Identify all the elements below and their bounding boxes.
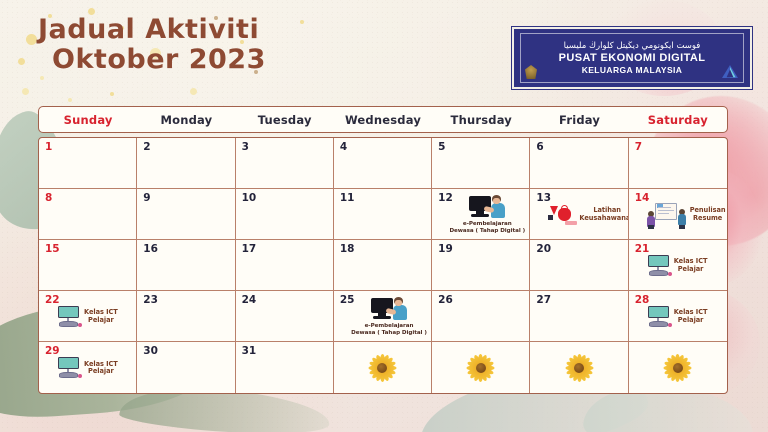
sunflower-icon — [367, 353, 397, 383]
event-label: Dewasa ( Tahap Digital ) — [351, 330, 427, 336]
day-number: 5 — [438, 142, 526, 153]
monitor-icon — [646, 305, 672, 329]
calendar-day-cell[interactable] — [334, 342, 432, 393]
event-label: Pelajar — [674, 266, 708, 273]
weekday-header-wednesday: Wednesday — [334, 107, 432, 132]
event-label: Pelajar — [674, 317, 708, 324]
day-number: 6 — [536, 142, 624, 153]
title-line-2: Oktober 2023 — [52, 46, 266, 74]
malaysia-crest-emblem-icon — [525, 65, 537, 79]
calendar-day-cell[interactable]: 16 — [137, 240, 235, 291]
calendar-poster: Jadual Aktiviti Oktober 2023 فوست ايكونو… — [0, 0, 768, 432]
calendar-day-cell[interactable]: 4 — [334, 138, 432, 189]
calendar-day-cell[interactable] — [432, 342, 530, 393]
event-text-block: Kelas ICTPelajar — [84, 309, 118, 324]
calendar-day-cell[interactable]: 20 — [530, 240, 628, 291]
weekday-header-saturday: Saturday — [629, 107, 727, 132]
calendar-day-cell[interactable]: 24 — [236, 291, 334, 342]
calendar-day-cell[interactable]: 7 — [629, 138, 727, 189]
calendar-day-cell[interactable]: 27 — [530, 291, 628, 342]
day-number: 30 — [143, 346, 231, 357]
triangle-logo-icon — [722, 65, 738, 78]
day-number: 18 — [340, 244, 428, 255]
event-text-block: PenulisanResume — [690, 207, 726, 222]
day-number: 28 — [635, 295, 724, 306]
calendar-day-cell[interactable]: 26 — [432, 291, 530, 342]
day-number: 19 — [438, 244, 526, 255]
calendar-day-cell[interactable]: 15 — [39, 240, 137, 291]
sunflower-icon — [466, 353, 496, 383]
event-label: Keusahawanan — [579, 215, 628, 222]
day-number: 23 — [143, 295, 231, 306]
event-text-block: Kelas ICTPelajar — [674, 258, 708, 273]
day-number: 21 — [635, 244, 724, 255]
day-number: 2 — [143, 142, 231, 153]
monitor-icon — [646, 254, 672, 278]
day-number: 7 — [635, 142, 724, 153]
day-number: 13 — [536, 193, 624, 204]
event-text-block: LatihanKeusahawanan — [579, 207, 628, 222]
page-title: Jadual Aktiviti Oktober 2023 — [38, 16, 266, 74]
day-number: 26 — [438, 295, 526, 306]
calendar-day-cell[interactable]: 25e-PembelajaranDewasa ( Tahap Digital ) — [334, 291, 432, 342]
day-number: 17 — [242, 244, 330, 255]
weekday-header-row: SundayMondayTuesdayWednesdayThursdayFrid… — [38, 106, 728, 133]
calendar-day-cell[interactable]: 28Kelas ICTPelajar — [629, 291, 727, 342]
day-number: 1 — [45, 142, 133, 153]
calendar-day-cell[interactable]: 2 — [137, 138, 235, 189]
calendar-day-cell[interactable]: 12e-PembelajaranDewasa ( Tahap Digital ) — [432, 189, 530, 240]
calendar-day-cell[interactable]: 8 — [39, 189, 137, 240]
day-number: 24 — [242, 295, 330, 306]
day-number: 8 — [45, 193, 133, 204]
calendar-day-cell[interactable]: 29Kelas ICTPelajar — [39, 342, 137, 393]
day-number: 20 — [536, 244, 624, 255]
weekday-header-thursday: Thursday — [432, 107, 530, 132]
day-number: 31 — [242, 346, 330, 357]
day-number: 25 — [340, 295, 428, 306]
weekday-header-sunday: Sunday — [39, 107, 137, 132]
calendar-day-cell[interactable]: 22Kelas ICTPelajar — [39, 291, 137, 342]
day-number: 12 — [438, 193, 526, 204]
calendar-day-cell[interactable]: 19 — [432, 240, 530, 291]
organization-logo-banner: فوست ايكونومي ديڬيتل كلوارڬ مليسيا PUSAT… — [512, 27, 752, 89]
title-line-1: Jadual Aktiviti — [38, 16, 266, 44]
event-text-block: Kelas ICTPelajar — [674, 309, 708, 324]
logo-secondary-text: KELUARGA MALAYSIA — [582, 65, 683, 75]
calendar-day-cell[interactable]: 11 — [334, 189, 432, 240]
logo-primary-text: PUSAT EKONOMI DIGITAL — [559, 52, 706, 64]
calendar-day-cell[interactable]: 30 — [137, 342, 235, 393]
day-number: 27 — [536, 295, 624, 306]
calendar-day-cell[interactable]: 6 — [530, 138, 628, 189]
event-label: Resume — [690, 215, 726, 222]
day-number: 22 — [45, 295, 133, 306]
weekday-header-monday: Monday — [137, 107, 235, 132]
monitor-icon — [56, 305, 82, 329]
weekday-header-friday: Friday — [530, 107, 628, 132]
weekday-header-tuesday: Tuesday — [236, 107, 334, 132]
calendar-day-cell[interactable]: 21Kelas ICTPelajar — [629, 240, 727, 291]
people-whiteboard-icon — [646, 202, 688, 228]
calendar-day-cell[interactable] — [629, 342, 727, 393]
calendar-day-cell[interactable]: 9 — [137, 189, 235, 240]
day-number: 4 — [340, 142, 428, 153]
calendar: SundayMondayTuesdayWednesdayThursdayFrid… — [38, 106, 728, 394]
sunflower-icon — [564, 353, 594, 383]
calendar-day-cell[interactable]: 18 — [334, 240, 432, 291]
monitor-icon — [56, 356, 82, 380]
calendar-day-cell[interactable]: 5 — [432, 138, 530, 189]
day-number: 10 — [242, 193, 330, 204]
event-text-block: Kelas ICTPelajar — [84, 361, 118, 376]
calendar-day-cell[interactable]: 14PenulisanResume — [629, 189, 727, 240]
calendar-day-cell[interactable]: 17 — [236, 240, 334, 291]
calendar-day-cell[interactable]: 1 — [39, 138, 137, 189]
event-label: Dewasa ( Tahap Digital ) — [449, 228, 525, 234]
day-number: 3 — [242, 142, 330, 153]
calendar-day-cell[interactable] — [530, 342, 628, 393]
event-label: Pelajar — [84, 317, 118, 324]
calendar-day-cell[interactable]: 10 — [236, 189, 334, 240]
calendar-day-cell[interactable]: 31 — [236, 342, 334, 393]
logo-inner-frame: فوست ايكونومي ديڬيتل كلوارڬ مليسيا PUSAT… — [520, 33, 744, 83]
day-number: 14 — [635, 193, 724, 204]
day-number: 15 — [45, 244, 133, 255]
sunflower-icon — [663, 353, 693, 383]
calendar-grid: 123456789101112e-PembelajaranDewasa ( Ta… — [38, 137, 728, 394]
calendar-day-cell[interactable]: 3 — [236, 138, 334, 189]
day-number: 9 — [143, 193, 231, 204]
calendar-day-cell[interactable]: 13LatihanKeusahawanan — [530, 189, 628, 240]
day-number: 16 — [143, 244, 231, 255]
day-number: 11 — [340, 193, 428, 204]
day-number: 29 — [45, 346, 133, 357]
shopping-bag-icon — [547, 202, 577, 228]
logo-jawi-text: فوست ايكونومي ديڬيتل كلوارڬ مليسيا — [564, 41, 701, 51]
event-label: Pelajar — [84, 368, 118, 375]
calendar-day-cell[interactable]: 23 — [137, 291, 235, 342]
